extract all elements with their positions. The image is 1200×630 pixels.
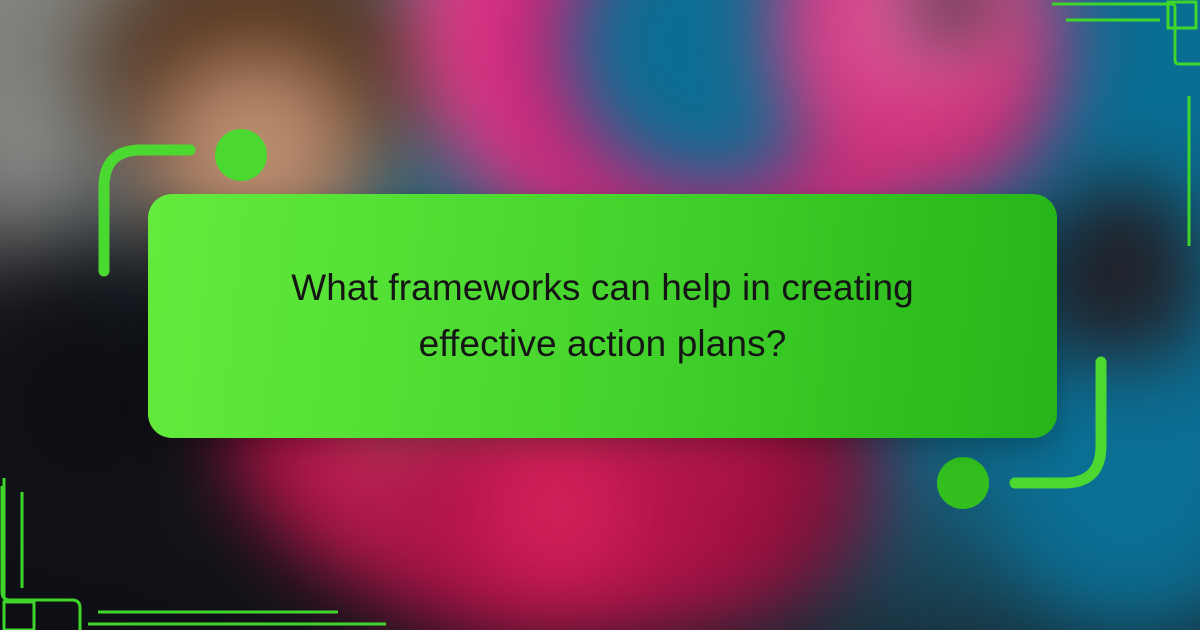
poster-canvas: What frameworks can help in creating eff… bbox=[0, 0, 1200, 630]
question-text: What frameworks can help in creating eff… bbox=[218, 260, 987, 372]
question-card: What frameworks can help in creating eff… bbox=[148, 194, 1057, 438]
